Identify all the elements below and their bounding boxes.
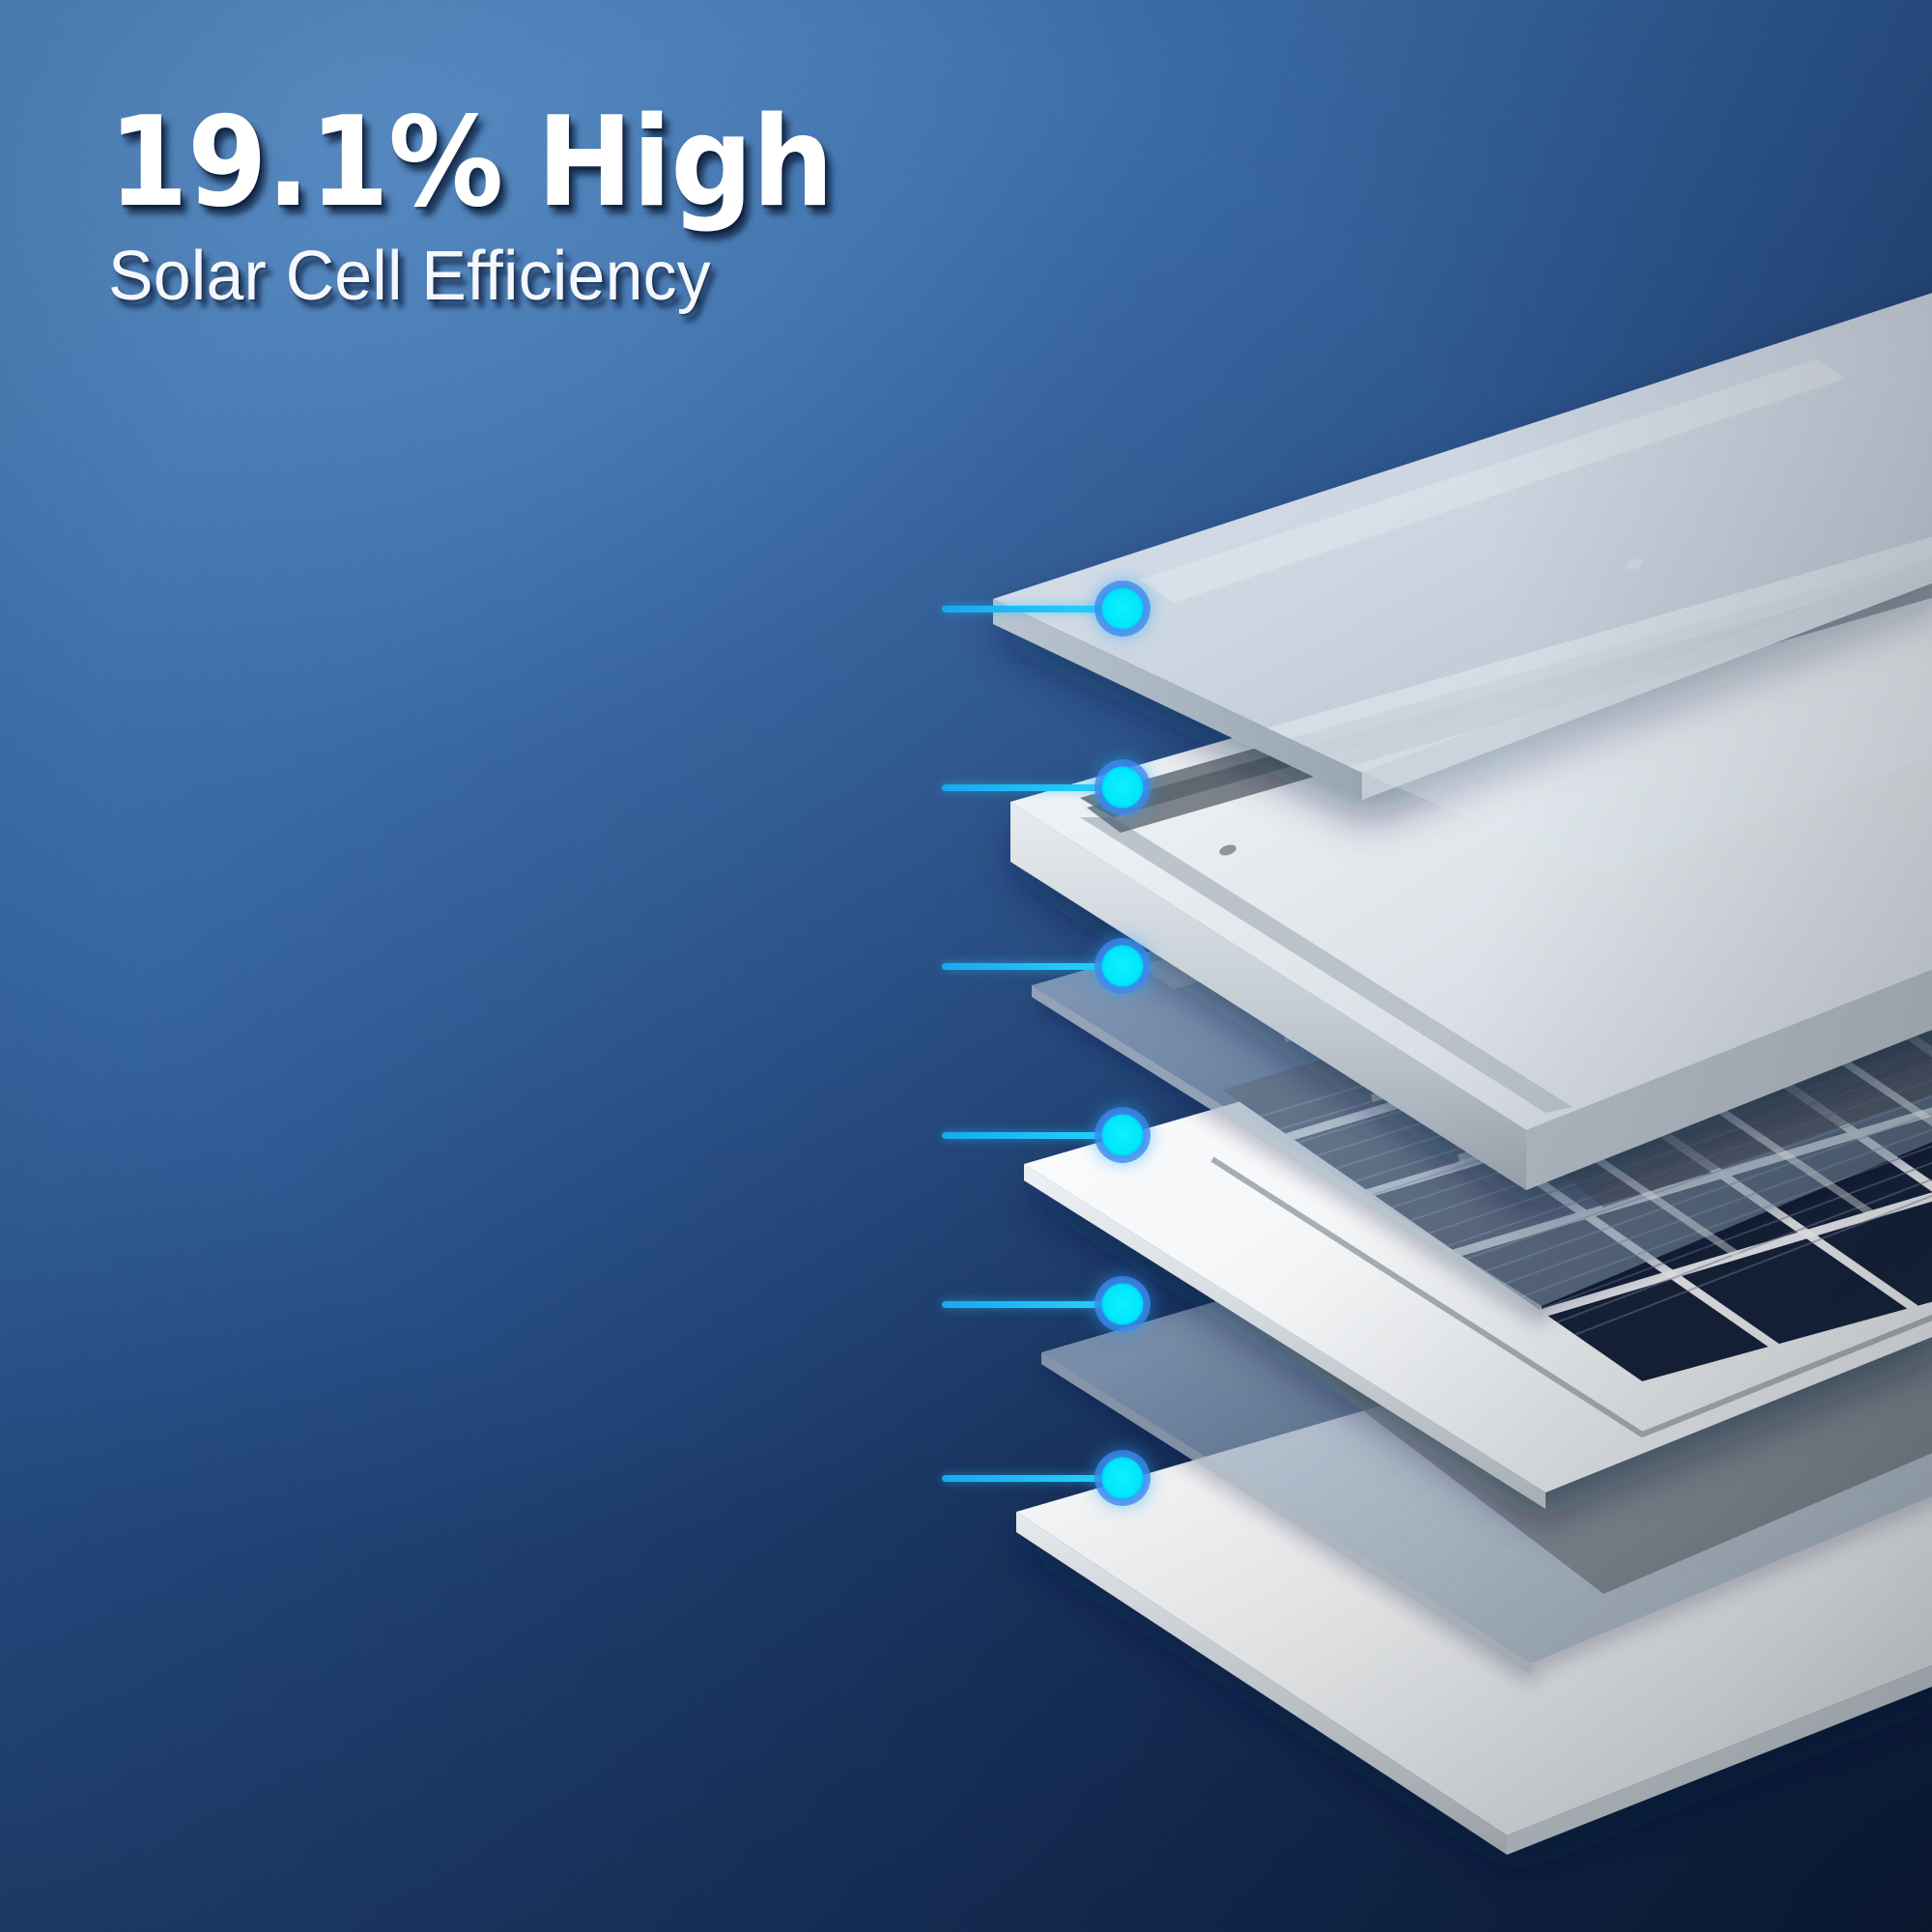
leader-line-eva-top	[942, 963, 1111, 970]
leader-line-frame	[942, 784, 1111, 791]
callout-dot-eva-bottom[interactable]	[1094, 1276, 1151, 1332]
efficiency-emphasis-word: High	[537, 91, 834, 235]
leader-line-backsheet	[942, 1475, 1111, 1482]
callout-dot-backsheet[interactable]	[1094, 1450, 1151, 1506]
leader-line-glass	[942, 606, 1111, 612]
callout-dot-frame[interactable]	[1094, 759, 1151, 815]
callout-dot-glass[interactable]	[1094, 581, 1151, 637]
callout-dot-eva-top[interactable]	[1094, 938, 1151, 994]
infographic-canvas: 19.1%High Solar Cell Efficiency Herculit…	[0, 0, 1932, 1932]
efficiency-percent-value: 19.1%	[108, 91, 502, 235]
page-title: 19.1%High	[108, 100, 1096, 227]
leader-line-eva-bottom	[942, 1301, 1111, 1308]
callout-dot-cell[interactable]	[1094, 1107, 1151, 1163]
headline-block: 19.1%High Solar Cell Efficiency	[108, 100, 1171, 313]
leader-line-cell	[942, 1132, 1111, 1139]
page-subtitle: Solar Cell Efficiency	[108, 241, 1139, 314]
